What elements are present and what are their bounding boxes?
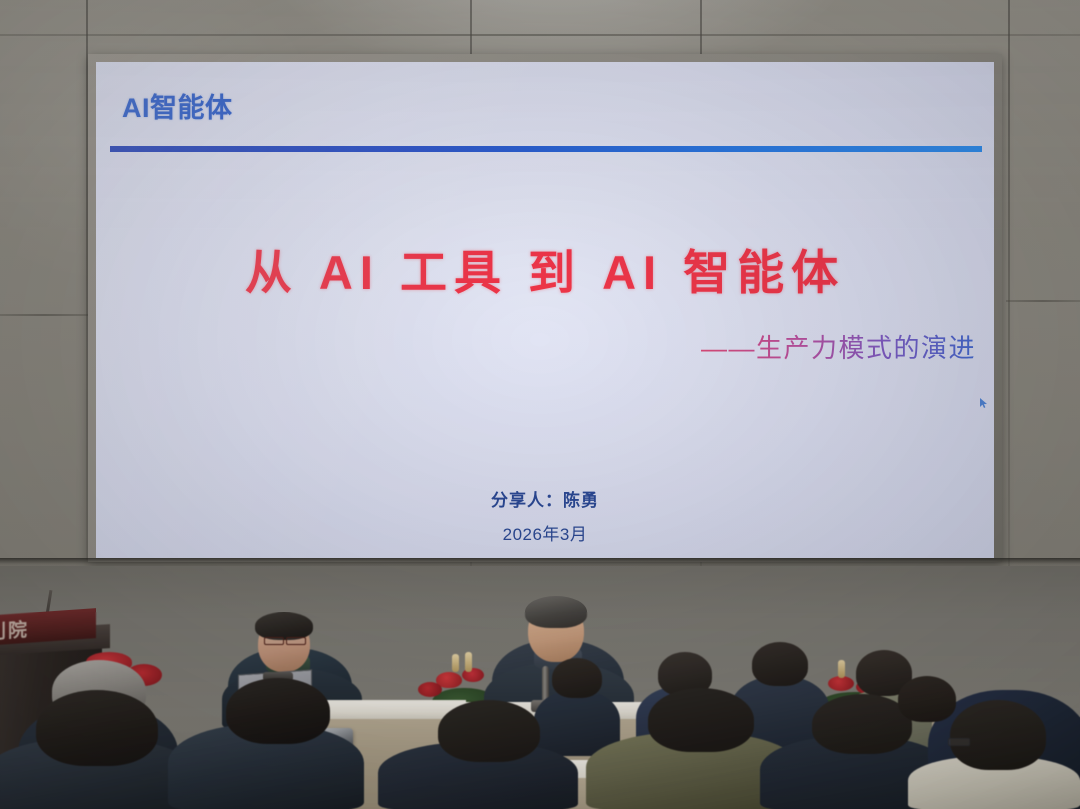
slide-title: 从 AI 工具 到 AI 智能体: [96, 234, 994, 303]
wall-panel-seam: [1008, 0, 1010, 620]
wall-panel-seam: [0, 34, 1080, 36]
eyeglasses-icon: [286, 637, 306, 645]
slide-subtitle: ——生产力模式的演进: [701, 328, 976, 365]
podium-plaque-text: 水利院: [0, 615, 29, 646]
eyeglasses-icon: [948, 738, 970, 746]
slide-divider-rule: [110, 146, 982, 152]
conference-room-photo: AI智能体 从 AI 工具 到 AI 智能体 ——生产力模式的演进 分享人：陈勇…: [0, 0, 1080, 809]
wall-panel-seam: [1006, 300, 1080, 302]
wall-panel-seam: [0, 314, 90, 316]
slide-header-label: AI智能体: [122, 86, 233, 125]
projection-screen: AI智能体 从 AI 工具 到 AI 智能体 ——生产力模式的演进 分享人：陈勇…: [96, 62, 994, 558]
slide-presenter-label: 分享人：陈勇: [96, 486, 994, 511]
eyeglasses-icon: [264, 637, 284, 645]
mouse-pointer-icon: [980, 398, 988, 408]
slide-date-label: 2026年3月: [96, 520, 994, 545]
